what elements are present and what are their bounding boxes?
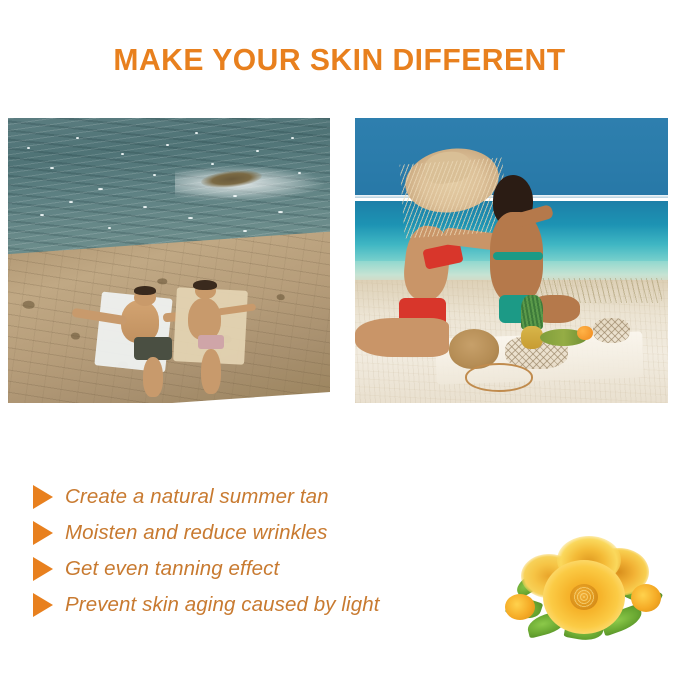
triangle-right-icon	[33, 557, 53, 581]
list-item: Create a natural summer tan	[33, 479, 503, 515]
benefit-label: Create a natural summer tan	[65, 485, 329, 509]
photo-left	[8, 118, 330, 403]
triangle-right-icon	[33, 521, 53, 545]
page-title: MAKE YOUR SKIN DIFFERENT	[10, 42, 669, 78]
promo-banner: MAKE YOUR SKIN DIFFERENT	[0, 0, 679, 679]
photo-row	[0, 118, 679, 403]
triangle-right-icon	[33, 485, 53, 509]
photo-right	[355, 118, 668, 403]
flower-bud-left	[505, 594, 535, 620]
benefit-label: Moisten and reduce wrinkles	[65, 521, 328, 545]
list-item: Get even tanning effect	[33, 551, 503, 587]
benefits-list: Create a natural summer tan Moisten and …	[33, 479, 503, 623]
calendula-flower-cluster	[505, 528, 670, 648]
benefit-label: Prevent skin aging caused by light	[65, 593, 380, 617]
flower-front-main	[543, 560, 625, 634]
triangle-right-icon	[33, 593, 53, 617]
flower-center	[570, 584, 598, 610]
flower-bud-right	[631, 584, 661, 612]
hat-fringe	[399, 157, 507, 238]
list-item: Moisten and reduce wrinkles	[33, 515, 503, 551]
list-item: Prevent skin aging caused by light	[33, 587, 503, 623]
benefit-label: Get even tanning effect	[65, 557, 279, 581]
